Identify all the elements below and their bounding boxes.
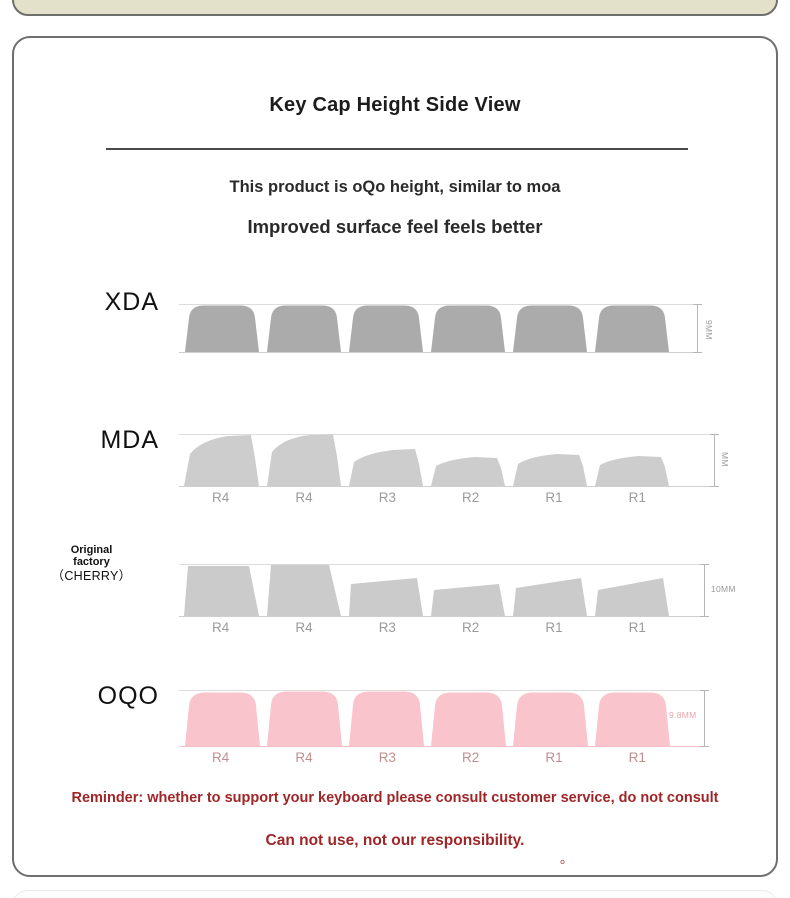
xda-keycap-svg: [179, 304, 701, 352]
mda-r-label: R4: [179, 490, 262, 505]
cherry-r-label: R3: [346, 620, 429, 635]
profile-row-cherry: Original factory （CHERRY）: [14, 522, 780, 618]
profile-row-xda: XDA 9MM: [14, 262, 780, 342]
cherry-dim-tick-bottom: [700, 616, 709, 617]
cherry-dimension-line: [704, 564, 705, 616]
next-image-card: [12, 890, 778, 898]
xda-height-label: 9MM: [704, 320, 714, 340]
xda-baseline: [179, 352, 701, 353]
footer-period-mark: 。: [560, 848, 573, 867]
cherry-r-label: R1: [512, 620, 595, 635]
mda-r-label: R1: [512, 490, 595, 505]
oqo-r-label: R4: [179, 750, 262, 765]
mda-r-label: R3: [346, 490, 429, 505]
footer-reminder-line: Reminder: whether to support your keyboa…: [14, 790, 776, 806]
mda-keycap-svg: [179, 434, 701, 486]
oqo-height-label: 9.8MM: [669, 710, 696, 720]
xda-dim-tick-top: [693, 304, 702, 305]
profile-row-mda: MDA R4 R4 R3: [14, 394, 780, 490]
mda-dimension-line: [714, 434, 715, 486]
cherry-keycap-strip: [179, 564, 701, 616]
footer-disclaimer-line: Can not use, not our responsibility.: [14, 832, 776, 850]
mda-r-label: R4: [262, 490, 345, 505]
product-detail-page: Key Cap Height Side View This product is…: [0, 0, 790, 898]
subtitle-secondary: Improved surface feel feels better: [14, 216, 776, 238]
cherry-baseline: [179, 616, 701, 617]
mda-dim-tick-top: [710, 434, 719, 435]
oqo-dim-tick-bottom: [700, 746, 709, 747]
oqo-dimension-line: [704, 690, 705, 746]
oqo-dim-tick-top: [700, 690, 709, 691]
mda-height-label: MM: [720, 452, 730, 467]
cherry-height-label: 10MM: [711, 584, 736, 594]
page-title: Key Cap Height Side View: [14, 94, 776, 117]
oqo-row-labels: R4 R4 R3 R2 R1 R1: [179, 750, 679, 765]
profile-label-mda: MDA: [24, 426, 159, 454]
cherry-dim-tick-top: [700, 564, 709, 565]
oqo-keycap-svg: [179, 690, 701, 746]
subtitle-primary: This product is oQo height, similar to m…: [14, 178, 776, 197]
oqo-r-label: R1: [512, 750, 595, 765]
cherry-r-label: R2: [429, 620, 512, 635]
title-divider: [106, 148, 688, 150]
previous-image-card: [12, 0, 778, 16]
xda-dim-tick-bottom: [693, 352, 702, 353]
oqo-r-label: R2: [429, 750, 512, 765]
oqo-keycap-strip: [179, 690, 701, 746]
xda-keycap-strip: [179, 304, 701, 352]
mda-r-label: R2: [429, 490, 512, 505]
mda-keycap-strip: [179, 434, 701, 486]
cherry-keycap-svg: [179, 564, 701, 616]
oqo-r-label: R4: [262, 750, 345, 765]
profile-label-cherry: Original factory （CHERRY）: [24, 544, 159, 583]
profile-row-oqo: OQO R4 R4 R3: [14, 646, 780, 746]
cherry-r-label: R1: [596, 620, 679, 635]
keycap-height-card: Key Cap Height Side View This product is…: [12, 36, 778, 877]
oqo-r-label: R3: [346, 750, 429, 765]
profile-label-oqo: OQO: [24, 682, 159, 710]
cherry-r-label: R4: [179, 620, 262, 635]
cherry-row-labels: R4 R4 R3 R2 R1 R1: [179, 620, 679, 635]
profile-label-xda: XDA: [24, 288, 159, 316]
mda-r-label: R1: [596, 490, 679, 505]
mda-dim-tick-bottom: [710, 486, 719, 487]
mda-baseline: [179, 486, 719, 487]
cherry-r-label: R4: [262, 620, 345, 635]
oqo-r-label: R1: [596, 750, 679, 765]
mda-row-labels: R4 R4 R3 R2 R1 R1: [179, 490, 679, 505]
xda-dimension-line: [697, 304, 698, 352]
oqo-baseline: [179, 746, 701, 747]
